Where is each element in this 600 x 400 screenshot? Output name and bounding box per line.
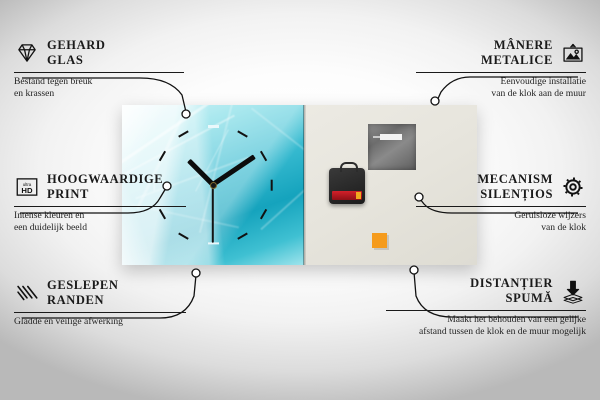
- clock-tick: [260, 209, 267, 220]
- clock-tick: [237, 131, 248, 138]
- diagonal-stripes-icon: [14, 280, 40, 306]
- callout-description: Eenvoudige installatie van de klok aan d…: [416, 76, 586, 101]
- clock-center-cap: [210, 182, 217, 189]
- callout-description: Geruisloze wijzers van de klok: [416, 210, 586, 235]
- callout-rule: [416, 206, 586, 207]
- battery-tip: [356, 192, 361, 199]
- clock-tick: [159, 150, 166, 161]
- ultra-hd-icon: ultra HD: [14, 174, 40, 200]
- movement-shaft: [340, 162, 358, 172]
- callout-description: Gladde en veilige afwerking: [14, 316, 186, 329]
- clock-tick: [270, 179, 272, 190]
- callout-gehard-glas: GEHARD GLAS Bestand tegen breuk en krass…: [14, 38, 184, 101]
- hanger-slot: [380, 134, 402, 140]
- clock-tick: [260, 150, 267, 161]
- clock-tick: [208, 125, 219, 127]
- callout-description: Intense kleuren en een duidelijk beeld: [14, 210, 186, 235]
- callout-rule: [14, 206, 186, 207]
- arrow-down-layers-icon: [560, 278, 586, 304]
- callout-hoogwaardige-print: ultra HD HOOGWAARDIGE PRINT Intense kleu…: [14, 172, 186, 235]
- callout-title: MECANISM SILENȚIOS: [477, 172, 553, 202]
- callout-geslepen-randen: GESLEPEN RANDEN Gladde en veilige afwerk…: [14, 278, 186, 328]
- callout-header: MÂNERE METALICE: [416, 38, 586, 68]
- callout-header: ultra HD HOOGWAARDIGE PRINT: [14, 172, 186, 202]
- movement-box: [329, 168, 365, 204]
- callout-mecanism-silentios: MECANISM SILENȚIOS Geruisloze wijzers va…: [416, 172, 586, 235]
- callout-title: MÂNERE METALICE: [481, 38, 553, 68]
- callout-title: GEHARD GLAS: [47, 38, 105, 68]
- gear-icon: [560, 174, 586, 200]
- callout-rule: [14, 312, 186, 313]
- callout-distantier-spuma: DISTANȚIER SPUMĂ Maakt het behouden van …: [386, 276, 586, 339]
- callout-header: DISTANȚIER SPUMĂ: [386, 276, 586, 306]
- battery: [332, 191, 362, 200]
- svg-text:HD: HD: [21, 186, 33, 195]
- clock-tick: [178, 131, 189, 138]
- callout-header: GESLEPEN RANDEN: [14, 278, 186, 308]
- callout-title: GESLEPEN RANDEN: [47, 278, 119, 308]
- hand-min: [212, 155, 256, 187]
- hand-sec: [212, 185, 214, 243]
- callout-description: Maakt het behouden van een gelijke afsta…: [386, 314, 586, 339]
- callout-rule: [386, 310, 586, 311]
- callout-header: GEHARD GLAS: [14, 38, 184, 68]
- callout-rule: [416, 72, 586, 73]
- callout-title: HOOGWAARDIGE PRINT: [47, 172, 163, 202]
- foam-spacer: [372, 233, 387, 248]
- infographic-canvas: GEHARD GLAS Bestand tegen breuk en krass…: [0, 0, 600, 400]
- callout-title: DISTANȚIER SPUMĂ: [470, 276, 553, 306]
- clock-tick: [237, 232, 248, 239]
- callout-header: MECANISM SILENȚIOS: [416, 172, 586, 202]
- hanger-plate: [368, 124, 416, 170]
- callout-manere-metalice: MÂNERE METALICE Eenvoudige installatie v…: [416, 38, 586, 101]
- picture-frame-icon: [560, 40, 586, 66]
- diamond-icon: [14, 40, 40, 66]
- callout-description: Bestand tegen breuk en krassen: [14, 76, 184, 101]
- callout-rule: [14, 72, 184, 73]
